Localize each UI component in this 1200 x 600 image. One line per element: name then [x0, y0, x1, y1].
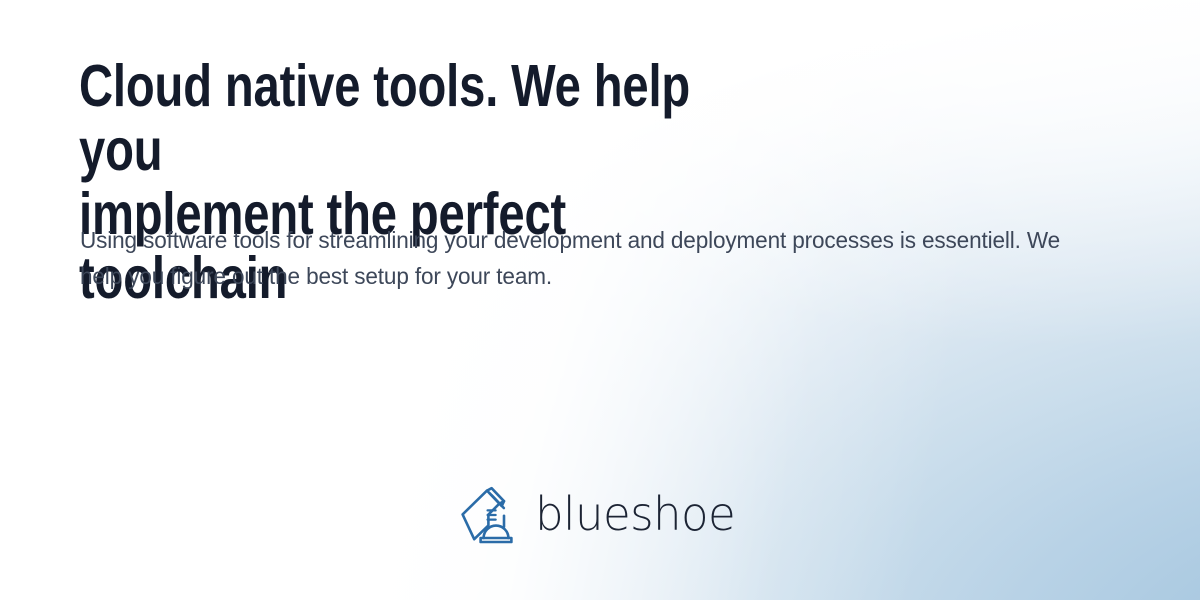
banner-content: Cloud native tools. We help you implemen… [0, 0, 1200, 600]
brand-logo: blueshoe [458, 484, 739, 546]
shoe-icon [458, 485, 518, 545]
subtitle-text: Using software tools for streamlining yo… [80, 222, 1069, 294]
logo-wordmark: blueshoe [535, 491, 735, 540]
marketing-banner: Cloud native tools. We help you implemen… [0, 0, 1200, 600]
